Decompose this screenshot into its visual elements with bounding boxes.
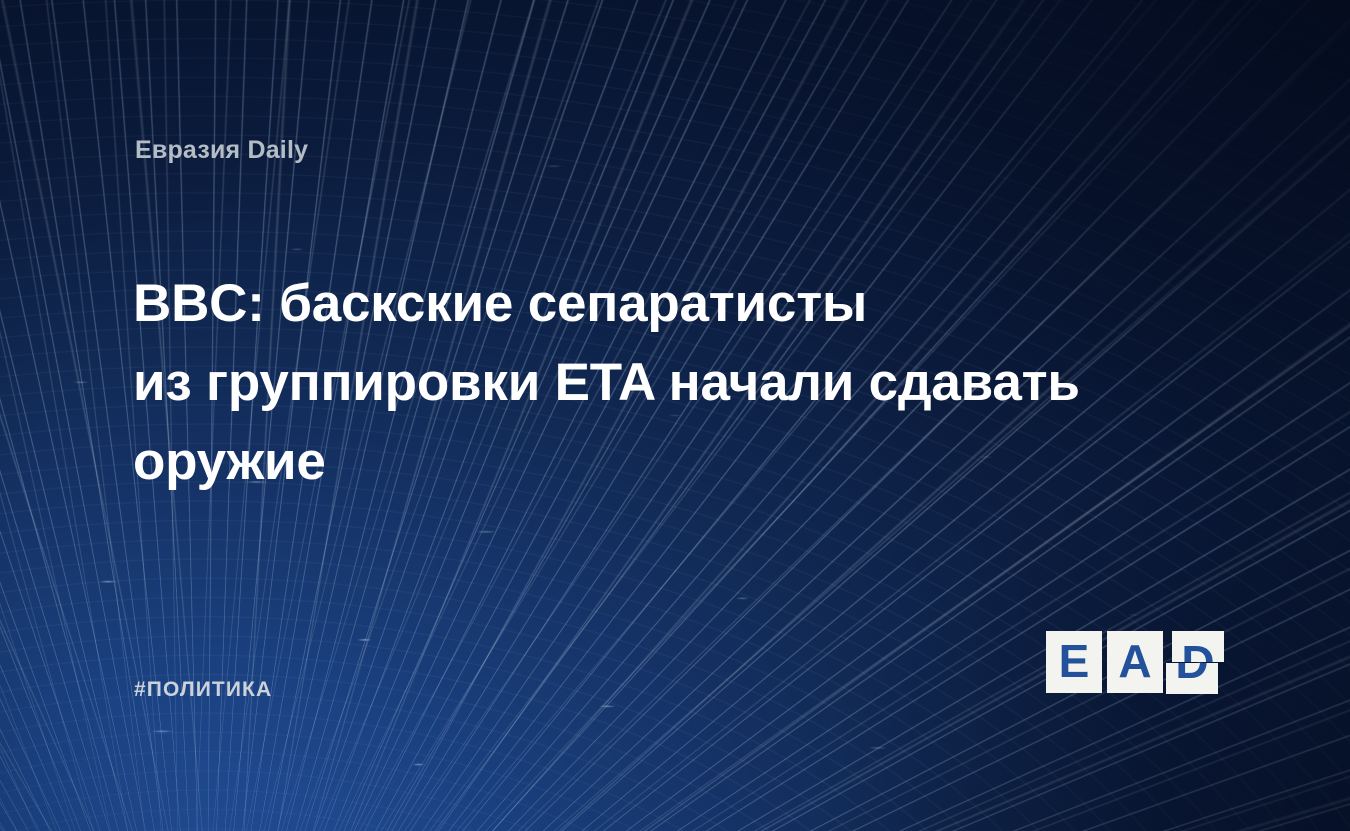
headline-line-1: BBC: баскские сепаратисты: [133, 264, 1143, 343]
logo-tile-a: A: [1107, 631, 1163, 693]
headline-line-2: из группировки ETA начали сдавать: [133, 343, 1143, 422]
headline-line-3: оружие: [133, 422, 1143, 501]
headline: BBC: баскские сепаратисты из группировки…: [133, 264, 1143, 501]
card-content: Евразия Daily BBC: баскские сепаратисты …: [0, 0, 1350, 831]
brand-title: Евразия Daily: [135, 136, 308, 165]
news-card: Евразия Daily BBC: баскские сепаратисты …: [0, 0, 1350, 831]
logo-tile-d-split: D D: [1166, 630, 1224, 694]
logo-letter-e: E: [1046, 631, 1102, 693]
logo-letter-d-top: D: [1172, 631, 1224, 662]
logo-letter-a: A: [1107, 631, 1163, 693]
logo-tile-e: E: [1046, 631, 1102, 693]
logo-letter-d-bottom: D: [1166, 663, 1218, 693]
logo-tile-d-top: D: [1172, 631, 1224, 662]
ead-logo[interactable]: E A D D: [1046, 630, 1224, 694]
logo-tile-d-bottom: D: [1166, 663, 1218, 694]
category-tag[interactable]: #ПОЛИТИКА: [134, 678, 272, 702]
